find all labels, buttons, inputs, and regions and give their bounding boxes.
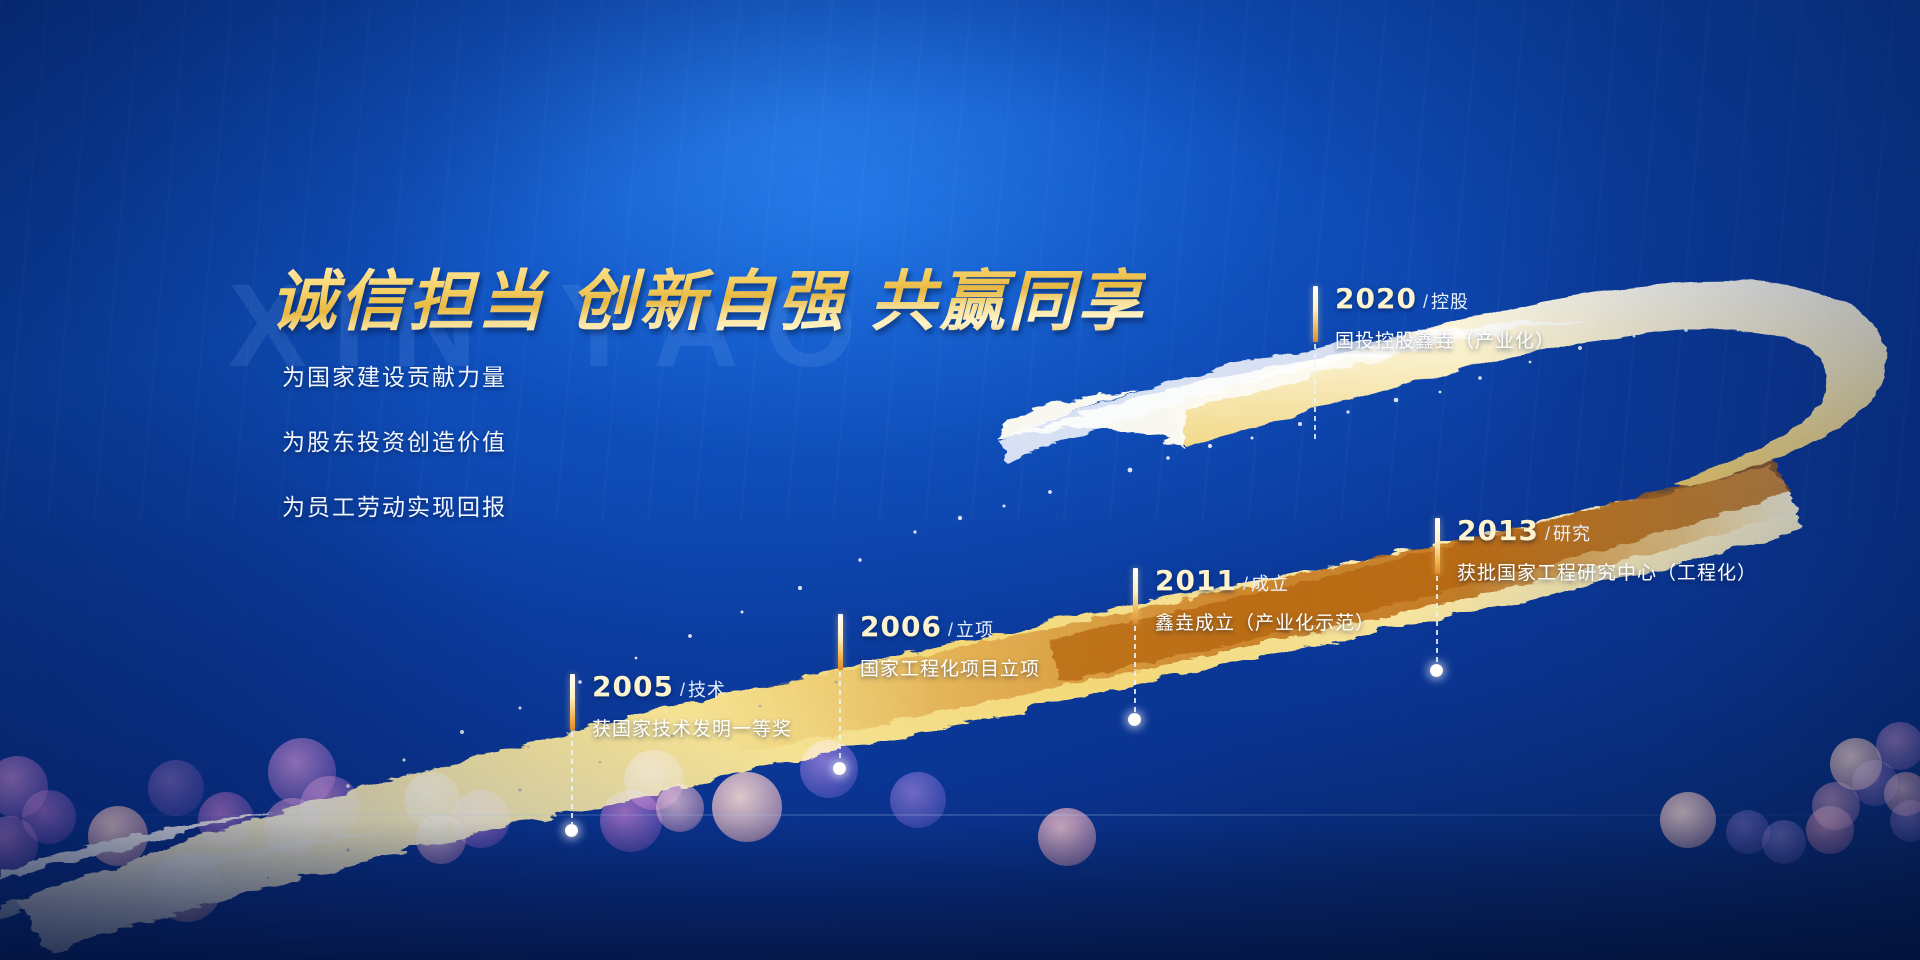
- bokeh-circle: [1038, 808, 1096, 866]
- bokeh-circle: [1876, 722, 1920, 770]
- milestone-accent-bar: [570, 674, 575, 730]
- milestone-dot[interactable]: [833, 762, 846, 775]
- milestone-accent-bar: [1313, 286, 1318, 342]
- bokeh-circle: [1812, 782, 1860, 830]
- milestone-year: 2013: [1457, 514, 1539, 547]
- milestone-description: 国家工程化项目立项: [860, 654, 1040, 681]
- bokeh-circle: [300, 776, 360, 836]
- bokeh-circle: [88, 806, 148, 866]
- milestone-connector-line: [571, 732, 573, 824]
- milestone-year: 2006: [860, 610, 942, 643]
- bokeh-circle: [1884, 772, 1920, 816]
- bokeh-circle: [600, 790, 662, 852]
- bokeh-circle: [1890, 800, 1920, 842]
- bokeh-circle: [800, 740, 858, 798]
- horizon-line: [0, 814, 1920, 816]
- bokeh-circle: [452, 790, 510, 848]
- milestone-year: 2020: [1335, 282, 1417, 315]
- milestone-category: 研究: [1553, 524, 1591, 544]
- subtitle-line: 为国家建设贡献力量: [282, 358, 507, 392]
- bokeh-circle: [416, 814, 466, 864]
- headline-part-1: 诚信担当: [270, 263, 546, 340]
- milestone-text: 2020/控股 国投控股鑫垚（产业化）: [1335, 282, 1555, 353]
- bokeh-circle: [152, 852, 222, 922]
- banner-stage: XIN YAO 诚信担当创新自强共赢同享 为国家建设贡献力量 为股东投资创造价值…: [0, 0, 1920, 960]
- bokeh-circle: [404, 772, 460, 828]
- bokeh-circle: [890, 772, 946, 828]
- milestone-accent-bar: [1133, 568, 1138, 624]
- milestone-text: 2005/技术 获国家技术发明一等奖: [592, 670, 792, 741]
- milestone-text: 2011/成立 鑫垚成立（产业化示范）: [1155, 564, 1375, 635]
- milestone-connector-line: [839, 672, 841, 762]
- milestone-text: 2013/研究 获批国家工程研究中心（工程化）: [1457, 514, 1757, 585]
- milestone-category: 控股: [1431, 292, 1469, 312]
- bokeh-circle: [22, 790, 76, 844]
- bokeh-circle: [1660, 792, 1716, 848]
- milestone-dot[interactable]: [565, 824, 578, 837]
- bokeh-circle: [1762, 820, 1806, 864]
- milestone-text: 2006/立项 国家工程化项目立项: [860, 610, 1040, 681]
- milestone-description: 获国家技术发明一等奖: [592, 714, 792, 741]
- milestone-separator: /: [1545, 524, 1550, 544]
- milestone-separator: /: [680, 680, 685, 700]
- bokeh-circle: [624, 750, 684, 810]
- bokeh-circle: [656, 784, 704, 832]
- page-title: 诚信担当创新自强共赢同享: [270, 248, 1146, 344]
- headline-part-3: 共赢同享: [870, 263, 1146, 340]
- bokeh-circle: [264, 798, 322, 856]
- bokeh-circle: [198, 792, 254, 848]
- milestone-accent-bar: [838, 614, 843, 670]
- milestone-description: 国投控股鑫垚（产业化）: [1335, 326, 1555, 353]
- bokeh-circle: [268, 738, 336, 806]
- milestone-year: 2005: [592, 670, 674, 703]
- bokeh-circle: [712, 772, 782, 842]
- milestone-dot[interactable]: [1128, 713, 1141, 726]
- milestone-connector-line: [1134, 626, 1136, 713]
- milestone-category: 成立: [1251, 574, 1289, 594]
- milestone-accent-bar: [1435, 518, 1440, 574]
- milestone-separator: /: [948, 620, 953, 640]
- bokeh-circle: [1852, 760, 1898, 806]
- milestone-category: 立项: [956, 620, 994, 640]
- milestone-connector-line: [1314, 344, 1316, 440]
- subtitle-line: 为员工劳动实现回报: [282, 488, 507, 522]
- bokeh-circle: [1806, 806, 1854, 854]
- milestone-connector-line: [1436, 576, 1438, 664]
- milestone-category: 技术: [688, 680, 726, 700]
- bokeh-circle: [148, 760, 204, 816]
- subtitle-list: 为国家建设贡献力量 为股东投资创造价值 为员工劳动实现回报: [282, 358, 507, 553]
- bottom-shade: [0, 820, 1920, 960]
- milestone-separator: /: [1423, 292, 1428, 312]
- headline-part-2: 创新自强: [570, 263, 846, 340]
- milestone-year: 2011: [1155, 564, 1237, 597]
- milestone-description: 获批国家工程研究中心（工程化）: [1457, 558, 1757, 585]
- bokeh-circle: [1726, 810, 1770, 854]
- milestone-description: 鑫垚成立（产业化示范）: [1155, 608, 1375, 635]
- bokeh-circle: [0, 756, 48, 818]
- milestone-dot[interactable]: [1430, 664, 1443, 677]
- bokeh-circle: [1830, 738, 1882, 790]
- subtitle-line: 为股东投资创造价值: [282, 423, 507, 457]
- bokeh-circle: [0, 816, 38, 874]
- milestone-separator: /: [1243, 574, 1248, 594]
